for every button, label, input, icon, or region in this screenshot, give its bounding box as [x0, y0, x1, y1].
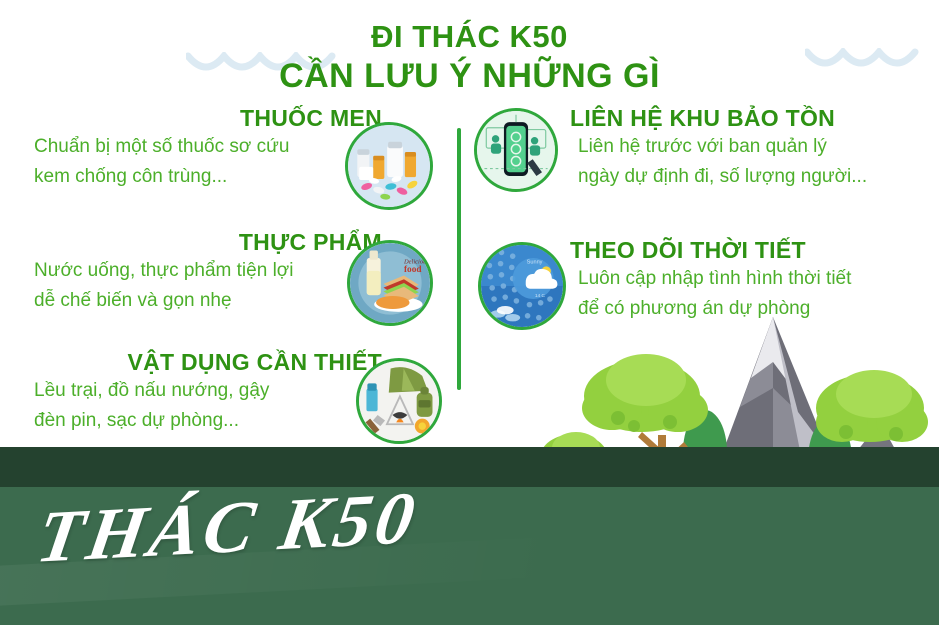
- mobile-contact-icon: [474, 108, 558, 192]
- svg-text:14 C: 14 C: [535, 293, 545, 298]
- poster-title: ĐI THÁC K50 CẦN LƯU Ý NHỮNG GÌ: [0, 18, 939, 96]
- section-lien-he: LIÊN HỆ KHU BẢO TỒN Liên hệ trước với ba…: [474, 104, 914, 224]
- camping-gear-icon: [356, 358, 442, 444]
- section-thuoc-men: THUỐC MEN Chuẩn bị một số thuốc sơ cứu k…: [34, 104, 434, 216]
- section-vat-dung: VẬT DỤNG CẦN THIẾT Lều trại, đồ nấu nướn…: [34, 348, 434, 448]
- svg-text:food: food: [404, 265, 422, 275]
- vertical-divider: [457, 128, 461, 390]
- title-line-1: ĐI THÁC K50: [0, 18, 939, 56]
- infographic-poster: ĐI THÁC K50 CẦN LƯU Ý NHỮNG GÌ THUỐC MEN…: [0, 0, 939, 625]
- svg-text:Sunny: Sunny: [527, 260, 543, 266]
- body-line-1: Liên hệ trước với ban quản lý: [578, 132, 914, 162]
- title-line-2: CẦN LƯU Ý NHỮNG GÌ: [0, 56, 939, 96]
- body-line-2: ngày dự định đi, số lượng người...: [578, 162, 914, 192]
- food-milk-sandwich-icon: Delicious food: [347, 240, 433, 326]
- left-column: THUỐC MEN Chuẩn bị một số thuốc sơ cứu k…: [34, 104, 434, 460]
- section-thuc-pham: THỰC PHẨM Nước uống, thực phẩm tiện lợi …: [34, 228, 434, 336]
- medicine-bottles-icon: [345, 122, 433, 210]
- body-line-1: Luôn cập nhập tình hình thời tiết: [578, 264, 914, 294]
